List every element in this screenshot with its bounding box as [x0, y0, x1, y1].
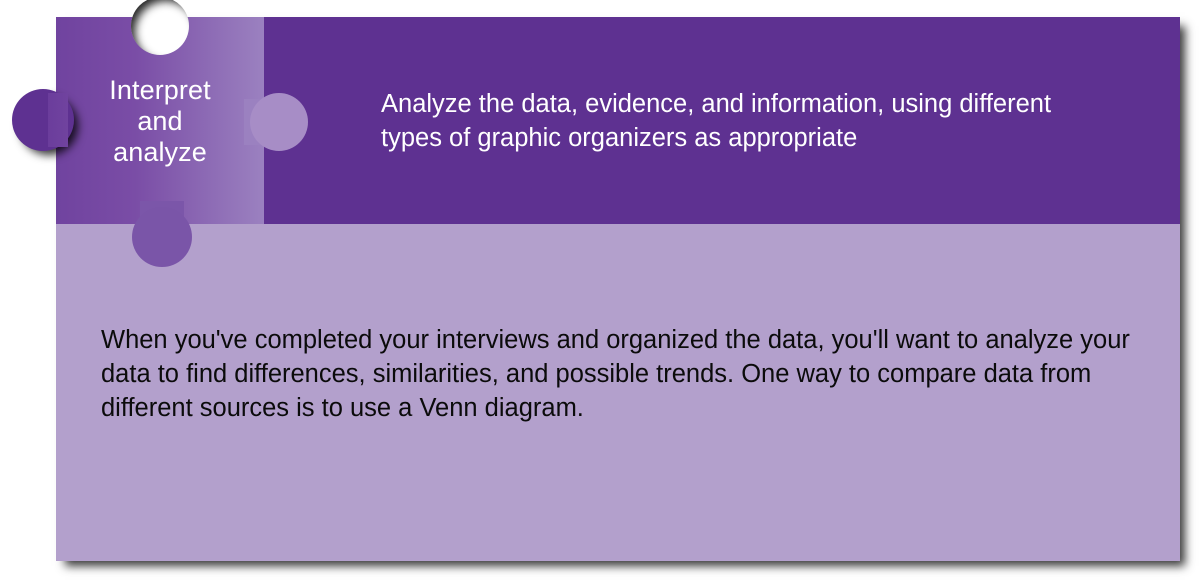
slide-canvas: Interpret and analyze Analyze the data, …	[0, 0, 1200, 587]
step-title: Interpret and analyze	[56, 75, 264, 168]
header-description: Analyze the data, evidence, and informat…	[381, 87, 1081, 155]
body-paragraph: When you've completed your interviews an…	[101, 323, 1146, 425]
puzzle-piece-card: Interpret and analyze Analyze the data, …	[56, 17, 1180, 561]
puzzle-knob-bottom-icon	[132, 207, 192, 267]
